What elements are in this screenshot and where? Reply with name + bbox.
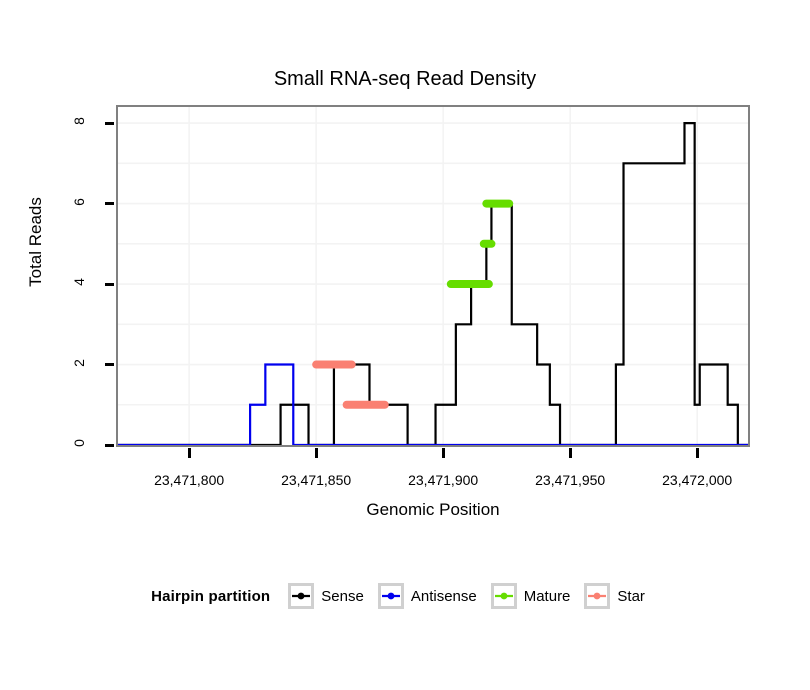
x-axis-tick [315, 448, 318, 458]
y-axis-tick-label: 4 [71, 265, 87, 299]
y-axis-tick-label: 0 [71, 426, 87, 460]
legend-label: Star [617, 588, 645, 605]
legend-label: Antisense [411, 588, 477, 605]
y-axis-tick [105, 363, 114, 366]
x-axis-tick-label: 23,471,900 [383, 472, 503, 488]
legend-entry-mature[interactable]: Mature [491, 583, 571, 609]
legend-key-antisense [378, 583, 404, 609]
y-axis-tick [105, 283, 114, 286]
legend-label: Sense [321, 588, 364, 605]
y-axis-tick-label: 6 [71, 185, 87, 219]
chart-title: Small RNA-seq Read Density [0, 68, 810, 91]
x-axis-tick [696, 448, 699, 458]
x-axis-tick-label: 23,472,000 [637, 472, 757, 488]
x-axis-tick-label: 23,471,850 [256, 472, 376, 488]
legend-entries: SenseAntisenseMatureStar [288, 583, 659, 609]
legend-title: Hairpin partition [151, 588, 270, 605]
x-axis-tick [569, 448, 572, 458]
x-axis-label: Genomic Position [116, 500, 750, 520]
x-axis-tick-label: 23,471,800 [129, 472, 249, 488]
y-axis-tick [105, 444, 114, 447]
legend: Hairpin partition SenseAntisenseMatureSt… [0, 583, 810, 609]
legend-label: Mature [524, 588, 571, 605]
legend-key-sense [288, 583, 314, 609]
x-axis-tick [188, 448, 191, 458]
plot-area [118, 107, 748, 445]
y-axis-tick-label: 8 [71, 104, 87, 138]
y-axis-tick [105, 122, 114, 125]
x-axis-tick-label: 23,471,950 [510, 472, 630, 488]
legend-entry-antisense[interactable]: Antisense [378, 583, 477, 609]
y-axis-tick-label: 2 [71, 346, 87, 380]
y-axis-tick [105, 202, 114, 205]
legend-key-mature [491, 583, 517, 609]
chart-canvas: Small RNA-seq Read Density Total Reads G… [0, 0, 810, 690]
legend-key-star [584, 583, 610, 609]
x-axis-tick [442, 448, 445, 458]
y-axis-label: Total Reads [26, 162, 46, 322]
legend-entry-sense[interactable]: Sense [288, 583, 364, 609]
legend-entry-star[interactable]: Star [584, 583, 645, 609]
